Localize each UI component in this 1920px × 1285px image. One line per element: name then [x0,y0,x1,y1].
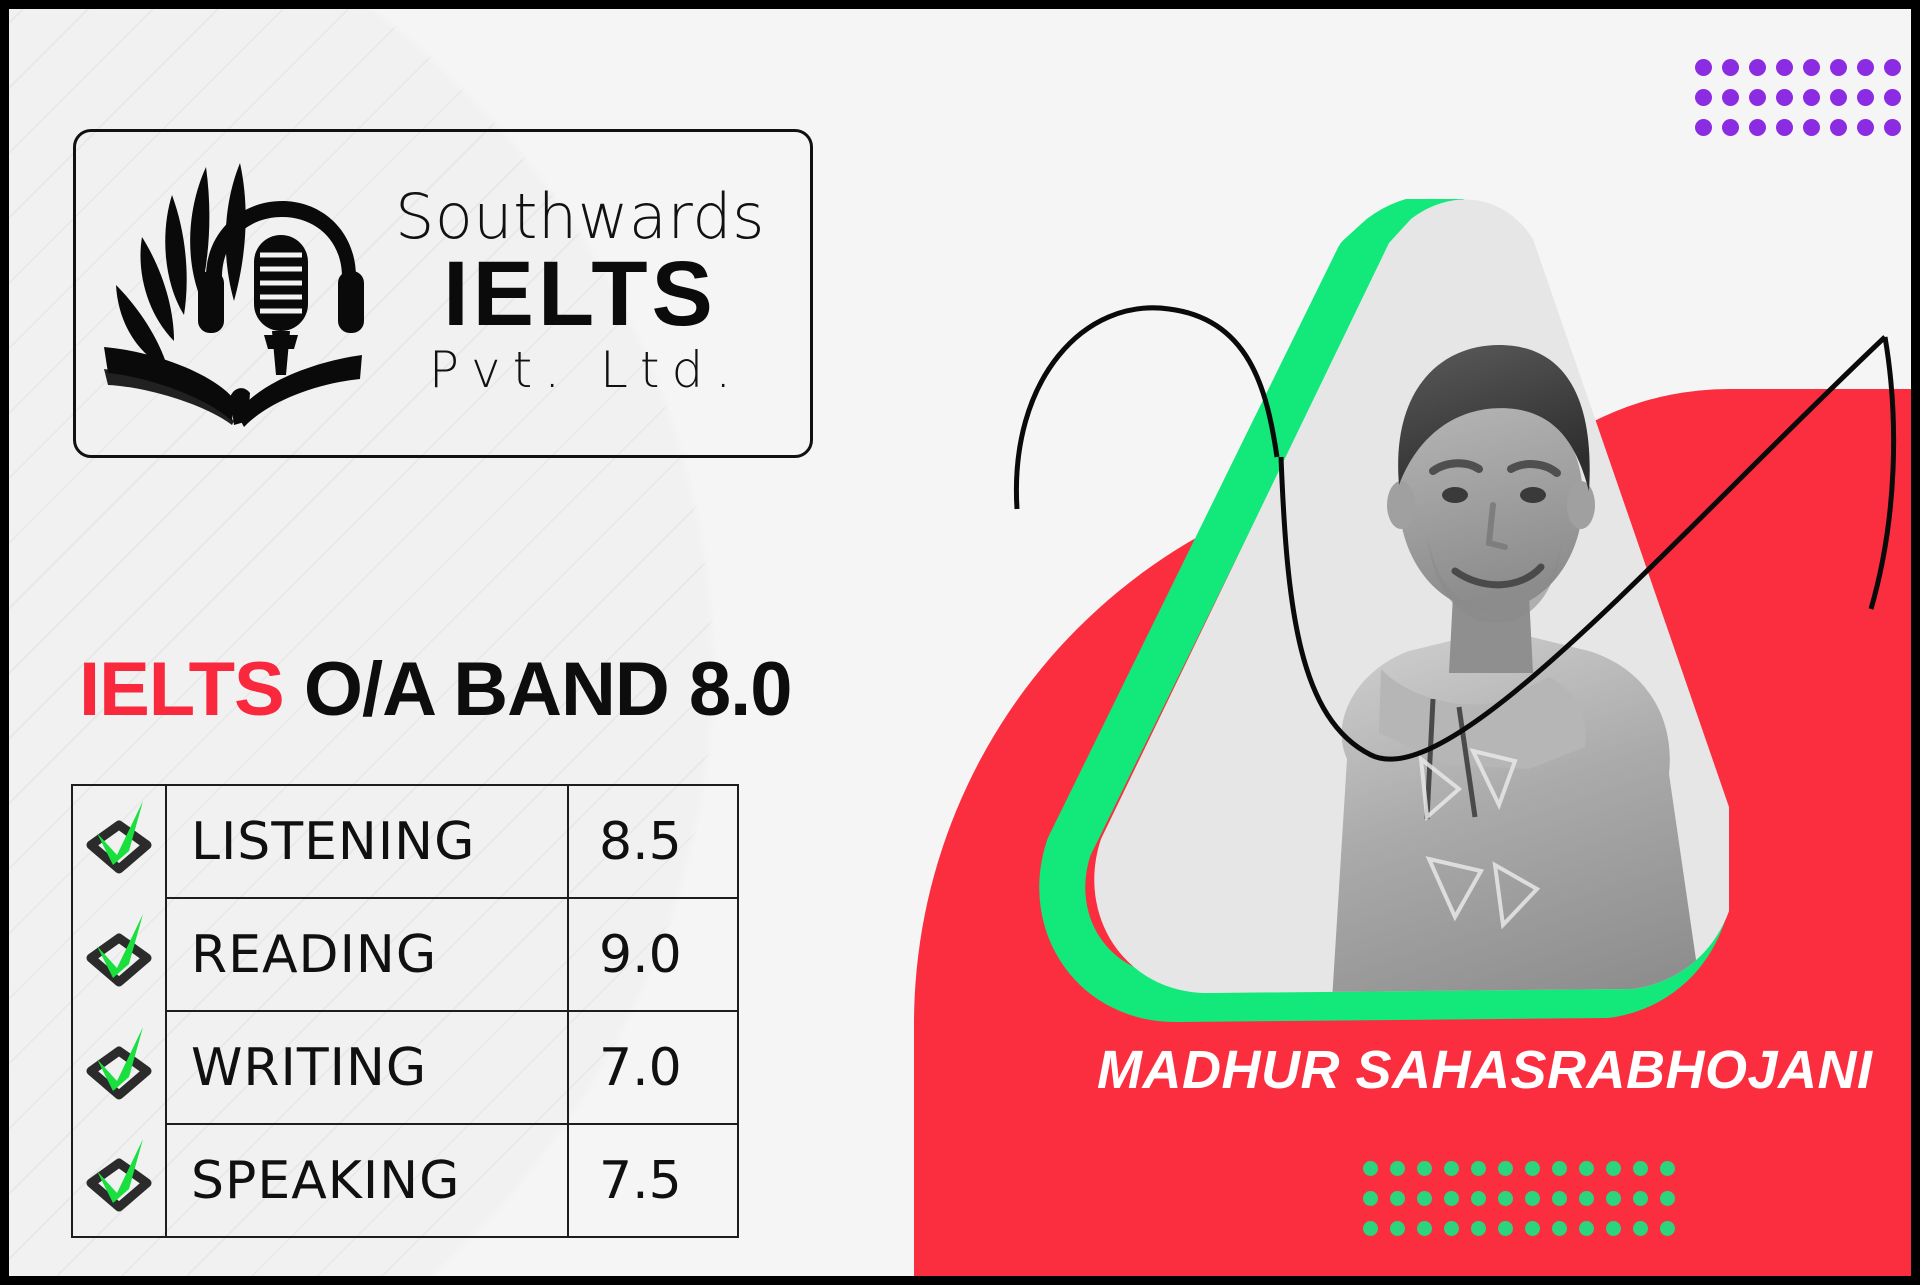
decorative-dot [1552,1161,1567,1176]
purple-dot-grid [1695,59,1911,149]
decorative-dot [1803,119,1820,136]
student-name: MADHUR SAHASRABHOJANI [1097,1039,1873,1101]
score-table-wrapper: LISTENING 8.5 READING 9.0 [71,784,739,1238]
poster-canvas: Southwards IELTS Pvt. Ltd. IELTS O/A BAN… [0,0,1920,1285]
decorative-dot [1660,1221,1675,1236]
decorative-dot [1417,1161,1432,1176]
decorative-dot [1390,1161,1405,1176]
decorative-dot [1579,1161,1594,1176]
decorative-dot [1552,1191,1567,1206]
check-icon-cell [72,898,166,1011]
decorative-dot [1695,59,1712,76]
table-row: READING 9.0 [72,898,738,1011]
check-icon [73,1014,165,1122]
decorative-dot [1633,1191,1648,1206]
decorative-dot [1633,1221,1648,1236]
logo-box: Southwards IELTS Pvt. Ltd. [73,129,813,458]
decorative-dot [1606,1221,1621,1236]
decorative-dot [1498,1161,1513,1176]
decorative-dot [1857,119,1874,136]
decorative-dot [1444,1221,1459,1236]
logo-line-ielts: IELTS [372,248,788,342]
score-skill: LISTENING [166,785,568,898]
decorative-dot [1498,1191,1513,1206]
decorative-dot [1857,89,1874,106]
decorative-dot [1722,119,1739,136]
decorative-dot [1803,59,1820,76]
check-icon [73,1126,165,1234]
check-icon-cell [72,1124,166,1237]
green-dot-grid [1363,1161,1687,1251]
decorative-dot [1722,59,1739,76]
decorative-dot [1884,119,1901,136]
page-title: IELTS O/A BAND 8.0 [79,646,792,733]
decorative-dot [1776,59,1793,76]
score-skill: SPEAKING [166,1124,568,1237]
decorative-dot [1552,1221,1567,1236]
decorative-dot [1776,89,1793,106]
decorative-dot [1471,1221,1486,1236]
score-table: LISTENING 8.5 READING 9.0 [71,784,739,1238]
decorative-dot [1363,1161,1378,1176]
decorative-dot [1776,119,1793,136]
black-line-accent [999,189,1899,889]
decorative-dot [1390,1191,1405,1206]
decorative-dot [1660,1161,1675,1176]
decorative-dot [1695,89,1712,106]
decorative-dot [1749,119,1766,136]
decorative-dot [1830,119,1847,136]
score-skill: WRITING [166,1011,568,1124]
check-icon [73,901,165,1009]
score-band: 9.0 [568,898,738,1011]
check-icon [73,788,165,896]
table-row: LISTENING 8.5 [72,785,738,898]
table-row: SPEAKING 7.5 [72,1124,738,1237]
decorative-dot [1695,119,1712,136]
decorative-dot [1525,1221,1540,1236]
decorative-dot [1444,1161,1459,1176]
decorative-dot [1830,89,1847,106]
decorative-dot [1363,1191,1378,1206]
poster-card: Southwards IELTS Pvt. Ltd. IELTS O/A BAN… [9,9,1911,1276]
logo-text: Southwards IELTS Pvt. Ltd. [372,187,810,399]
logo-line-southwards: Southwards [372,187,788,248]
score-band: 8.5 [568,785,738,898]
book-microphone-headphones-logo [94,159,372,429]
decorative-dot [1417,1191,1432,1206]
decorative-dot [1857,59,1874,76]
decorative-dot [1525,1191,1540,1206]
decorative-dot [1884,59,1901,76]
headline-rest: O/A BAND 8.0 [304,647,792,732]
decorative-dot [1579,1191,1594,1206]
decorative-dot [1363,1221,1378,1236]
decorative-dot [1722,89,1739,106]
decorative-dot [1444,1191,1459,1206]
check-icon-cell [72,1011,166,1124]
decorative-dot [1749,89,1766,106]
decorative-dot [1803,89,1820,106]
decorative-dot [1471,1161,1486,1176]
decorative-dot [1390,1221,1405,1236]
score-band: 7.5 [568,1124,738,1237]
decorative-dot [1471,1191,1486,1206]
logo-line-pvtltd: Pvt. Ltd. [372,342,788,400]
score-skill: READING [166,898,568,1011]
decorative-dot [1417,1221,1432,1236]
decorative-dot [1579,1221,1594,1236]
decorative-dot [1830,59,1847,76]
decorative-dot [1660,1191,1675,1206]
check-icon-cell [72,785,166,898]
decorative-dot [1498,1221,1513,1236]
decorative-dot [1884,89,1901,106]
decorative-dot [1606,1161,1621,1176]
decorative-dot [1749,59,1766,76]
decorative-dot [1606,1191,1621,1206]
decorative-dot [1525,1161,1540,1176]
headline-highlight: IELTS [79,647,284,732]
decorative-dot [1633,1161,1648,1176]
score-band: 7.0 [568,1011,738,1124]
table-row: WRITING 7.0 [72,1011,738,1124]
